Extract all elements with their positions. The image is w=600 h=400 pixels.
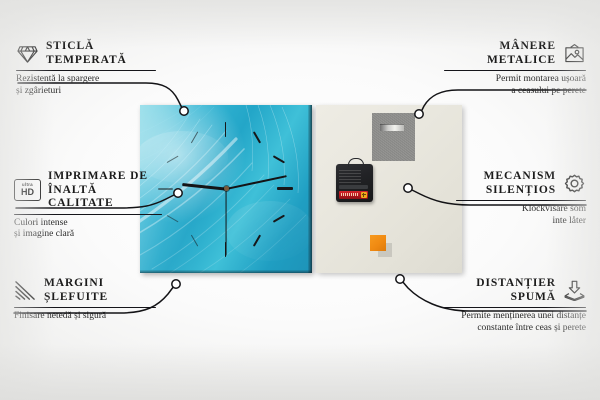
clock-hub [224,186,229,191]
feature-subtitle: Rezistentă la spargere și zgârieturi [16,74,156,97]
feature-header: STICLĂ TEMPERATĂ [16,40,156,67]
battery-label [341,193,358,196]
battery-positive-terminal [361,192,367,198]
feature-subtitle: Culori intense și imagine clară [14,218,162,241]
mechanism-slot [339,185,368,189]
gear-icon [563,173,586,194]
arrow-down-layers-icon [563,280,586,301]
feature-title: MARGINI ȘLEFUITE [44,277,108,304]
feature-header: MARGINI ȘLEFUITE [14,277,156,304]
feature-divider [456,200,586,201]
feature-subtitle: Finisare netedă și sigură [14,311,156,323]
mechanism-hook [348,158,364,167]
feature-title: MECANISM SILENȚIOS [484,170,556,197]
metal-hanger [372,113,415,161]
feature-polished-edges[interactable]: MARGINI ȘLEFUITE Finisare netedă și sigu… [14,277,156,323]
feature-subtitle: Permite menținerea unei distanțe constan… [444,311,586,334]
infographic-canvas: STICLĂ TEMPERATĂ Rezistentă la spargere … [0,0,600,400]
tick-3 [277,187,293,190]
feature-subtitle: Klockvisare som inte låter [456,204,586,227]
feature-divider [444,307,586,308]
feature-tempered-glass[interactable]: STICLĂ TEMPERATĂ Rezistentă la spargere … [16,40,156,97]
feature-divider [16,70,156,71]
feature-header: ultra HD IMPRIMARE DE ÎNALTĂ CALITATE [14,170,162,211]
mechanism-label [339,170,361,183]
hatch-lines-icon [14,280,37,301]
accessories-panel [316,105,462,273]
diamond-icon [16,43,39,64]
battery [339,191,368,199]
glass-edge-right [308,105,312,273]
hd-badge-big-text: HD [21,188,34,198]
foam-spacer [370,235,386,251]
feature-header: DISTANȚIER SPUMĂ [444,277,586,304]
feature-title: MÂNERE METALICE [487,40,556,67]
feature-divider [444,70,586,71]
anchor-polished-edges [172,280,180,288]
clock-mechanism [336,164,373,202]
feature-divider [14,214,162,215]
picture-frame-icon [563,43,586,64]
hanger-texture [372,113,415,161]
second-hand [225,190,226,256]
ultra-hd-badge-icon: ultra HD [14,179,41,201]
feature-metal-handles[interactable]: MÂNERE METALICE Permit montarea ușoară a… [444,40,586,97]
feature-subtitle: Permit montarea ușoară a ceasului pe per… [444,74,586,97]
feature-silent-mechanism[interactable]: MECANISM SILENȚIOS Klockvisare som inte … [456,170,586,227]
feature-divider [14,307,156,308]
feature-high-quality-print[interactable]: ultra HD IMPRIMARE DE ÎNALTĂ CALITATE Cu… [14,170,162,241]
hanger-slot [380,124,404,131]
feature-foam-spacer[interactable]: DISTANȚIER SPUMĂ Permite menținerea unei… [444,277,586,334]
glass-edge-bottom [140,270,312,273]
product-photo [140,105,462,273]
anchor-foam-spacer [396,275,404,283]
feature-header: MÂNERE METALICE [444,40,586,67]
clock-face [140,105,312,273]
feature-title: DISTANȚIER SPUMĂ [476,277,556,304]
feature-title: IMPRIMARE DE ÎNALTĂ CALITATE [48,170,162,211]
feature-title: STICLĂ TEMPERATĂ [46,40,127,67]
feature-header: MECANISM SILENȚIOS [456,170,586,197]
